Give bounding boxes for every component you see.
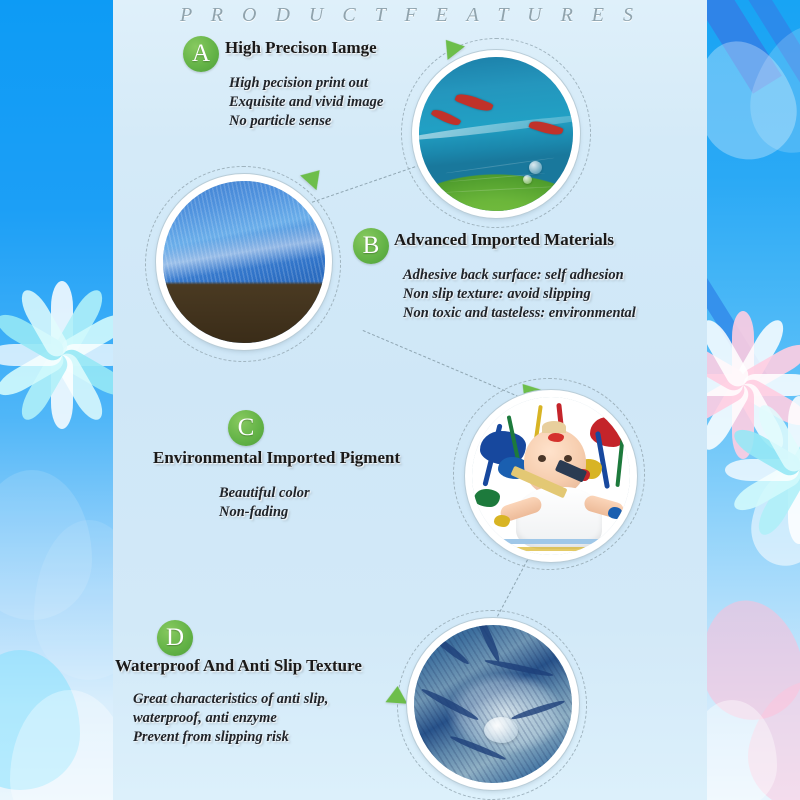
bullet-line: Non slip texture: avoid slipping: [403, 285, 636, 304]
right-decorative-band: [707, 0, 800, 800]
bullets-b: Adhesive back surface: self adhesion Non…: [403, 266, 636, 323]
photo-a-inner: [419, 57, 573, 211]
bullet-line: Exquisite and vivid image: [229, 93, 383, 112]
bullet-line: waterproof, anti enzyme: [133, 709, 328, 728]
bullet-line: Prevent from slipping risk: [133, 728, 328, 747]
bullets-a: High pecision print out Exquisite and vi…: [229, 74, 383, 131]
photo-d: [407, 618, 579, 790]
photo-b: [156, 174, 332, 350]
pond-fish-lilypad-photo: [419, 57, 573, 211]
infographic-canvas: P R O D U C T F E A T U R E S A High Pre…: [0, 0, 800, 800]
badge-b: B: [353, 228, 389, 264]
left-decorative-band: [0, 0, 113, 800]
bullets-d: Great characteristics of anti slip, wate…: [133, 690, 328, 747]
badge-c: C: [228, 410, 264, 446]
heading-c: Environmental Imported Pigment: [153, 448, 400, 468]
heading-a: High Precison Iamge: [225, 38, 377, 58]
page-title: P R O D U C T F E A T U R E S: [113, 4, 707, 27]
badge-d: D: [157, 620, 193, 656]
bullet-line: No particle sense: [229, 112, 383, 131]
photo-c: [465, 390, 637, 562]
wet-texture-droplet-photo: [414, 625, 572, 783]
badge-a: A: [183, 36, 219, 72]
bullet-line: Great characteristics of anti slip,: [133, 690, 328, 709]
bullet-line: Beautiful color: [219, 484, 310, 503]
bullet-line: High pecision print out: [229, 74, 383, 93]
photo-c-inner: [472, 397, 630, 555]
bullet-line: Adhesive back surface: self adhesion: [403, 266, 636, 285]
bullets-c: Beautiful color Non-fading: [219, 484, 310, 522]
heading-b: Advanced Imported Materials: [394, 230, 614, 250]
photo-b-inner: [163, 181, 325, 343]
baby-painting-photo: [472, 397, 630, 555]
bullet-line: Non-fading: [219, 503, 310, 522]
photo-a: [412, 50, 580, 218]
photo-d-inner: [414, 625, 572, 783]
arrow-marker-d: [385, 685, 408, 703]
content-panel: P R O D U C T F E A T U R E S A High Pre…: [113, 0, 707, 800]
blue-ribbed-fabric-photo: [163, 181, 325, 343]
bullet-line: Non toxic and tasteless: environmental: [403, 304, 636, 323]
heading-d: Waterproof And Anti Slip Texture: [115, 656, 362, 676]
